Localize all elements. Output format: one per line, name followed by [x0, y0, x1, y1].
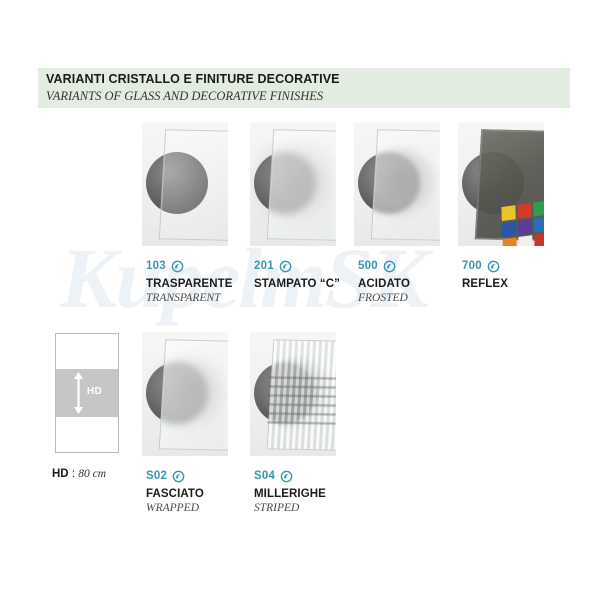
checker-swatch: [517, 203, 532, 219]
sample-code: S02: [146, 470, 167, 482]
sample-image-700[interactable]: [458, 122, 544, 246]
drop-swirl-icon: [280, 470, 293, 483]
checker-swatch: [533, 217, 544, 233]
sample-name-en: TRANSPARENT: [146, 292, 233, 304]
hd-caption-separator: :: [69, 468, 79, 480]
sample-name-en: WRAPPED: [146, 502, 204, 514]
page-title: VARIANTI CRISTALLO E FINITURE DECORATIVE: [46, 72, 340, 86]
color-checker-chart: [501, 201, 544, 246]
drop-swirl-icon: [172, 470, 185, 483]
sample-image-S04[interactable]: [250, 332, 336, 456]
sample-name-it: REFLEX: [462, 278, 508, 290]
sample-image-201[interactable]: [250, 122, 336, 246]
checker-swatch: [503, 237, 518, 246]
sample-name-it: FASCIATO: [146, 488, 204, 500]
glass-panel-printed-c: [267, 129, 336, 240]
sample-label-201: 201 STAMPATO “C”: [254, 259, 340, 292]
hd-caption: HD : 80 cm: [52, 468, 106, 480]
code-row: S02: [146, 469, 204, 483]
checker-swatch: [518, 219, 533, 235]
catalog-page: KupelmSK VARIANTI CRISTALLO E FINITURE D…: [0, 0, 600, 600]
checker-swatch: [501, 205, 516, 221]
code-row: S04: [254, 469, 326, 483]
checker-swatch: [533, 201, 544, 217]
sample-code: 103: [146, 260, 166, 272]
horizontal-banding: [268, 371, 336, 424]
sample-image-500[interactable]: [354, 122, 440, 246]
drop-swirl-icon: [487, 260, 500, 273]
section-header-band: VARIANTI CRISTALLO E FINITURE DECORATIVE…: [38, 68, 570, 108]
sample-label-S04: S04 MILLERIGHE STRIPED: [254, 469, 326, 514]
sample-label-S02: S02 FASCIATO WRAPPED: [146, 469, 204, 514]
drop-swirl-icon: [171, 260, 184, 273]
glass-panel-transparent: [159, 129, 228, 240]
sample-label-103: 103 TRASPARENTE TRANSPARENT: [146, 259, 233, 304]
sample-name-en: STRIPED: [254, 502, 326, 514]
sample-name-en: FROSTED: [358, 292, 410, 304]
sample-name-it: MILLERIGHE: [254, 488, 326, 500]
sample-code: 500: [358, 260, 378, 272]
sample-label-700: 700 REFLEX: [462, 259, 508, 292]
code-row: 700: [462, 259, 508, 273]
sample-code: 700: [462, 260, 482, 272]
hd-band-label: HD: [87, 386, 102, 397]
sample-name-it: ACIDATO: [358, 278, 410, 290]
hd-caption-value: 80 cm: [78, 468, 106, 480]
code-row: 103: [146, 259, 233, 273]
sample-image-S02[interactable]: [142, 332, 228, 456]
checker-swatch: [502, 221, 517, 237]
hd-diagram: HD: [55, 333, 119, 453]
checker-swatch: [534, 233, 544, 246]
hd-double-arrow-icon: [73, 372, 84, 414]
sample-name-it: STAMPATO “C”: [254, 278, 340, 290]
page-subtitle: VARIANTS OF GLASS AND DECORATIVE FINISHE…: [46, 89, 323, 104]
glass-panel-frosted: [371, 129, 440, 240]
sample-label-500: 500 ACIDATO FROSTED: [358, 259, 410, 304]
drop-swirl-icon: [279, 260, 292, 273]
checker-swatch: [518, 235, 533, 246]
drop-swirl-icon: [383, 260, 396, 273]
sample-code: S04: [254, 470, 275, 482]
code-row: 201: [254, 259, 340, 273]
code-row: 500: [358, 259, 410, 273]
hd-caption-label: HD: [52, 468, 69, 480]
sample-name-it: TRASPARENTE: [146, 278, 233, 290]
sample-code: 201: [254, 260, 274, 272]
glass-panel-wrapped: [159, 339, 228, 450]
sample-image-103[interactable]: [142, 122, 228, 246]
